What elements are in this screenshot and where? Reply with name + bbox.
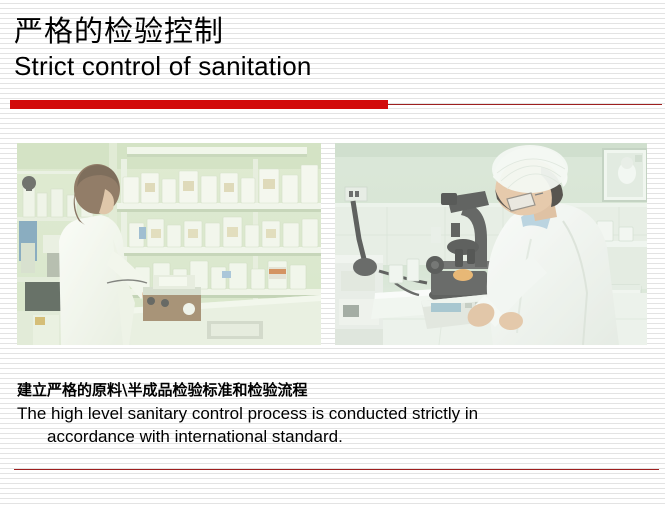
photo-right-illustration <box>335 143 647 345</box>
slide-title-block: 严格的检验控制 Strict control of sanitation <box>14 14 634 82</box>
caption-english: The high level sanitary control process … <box>17 402 647 448</box>
slide-caption-block: 建立严格的原料\半成品检验标准和检验流程 The high level sani… <box>17 380 647 448</box>
slide-canvas: 严格的检验控制 Strict control of sanitation <box>0 0 665 505</box>
caption-english-line-2: accordance with international standard. <box>17 425 647 448</box>
photo-lab-technician-microscope-inspection <box>335 143 647 345</box>
caption-chinese: 建立严格的原料\半成品检验标准和检验流程 <box>17 380 647 401</box>
title-divider-thick-bar <box>10 100 388 109</box>
footer-divider <box>14 469 659 470</box>
page-title-english: Strict control of sanitation <box>14 50 634 82</box>
title-divider <box>0 100 665 112</box>
caption-english-line-1: The high level sanitary control process … <box>17 404 478 423</box>
photo-lab-technician-weighing-samples <box>17 143 321 345</box>
photo-left-illustration <box>17 143 321 345</box>
page-title-chinese: 严格的检验控制 <box>14 14 634 48</box>
